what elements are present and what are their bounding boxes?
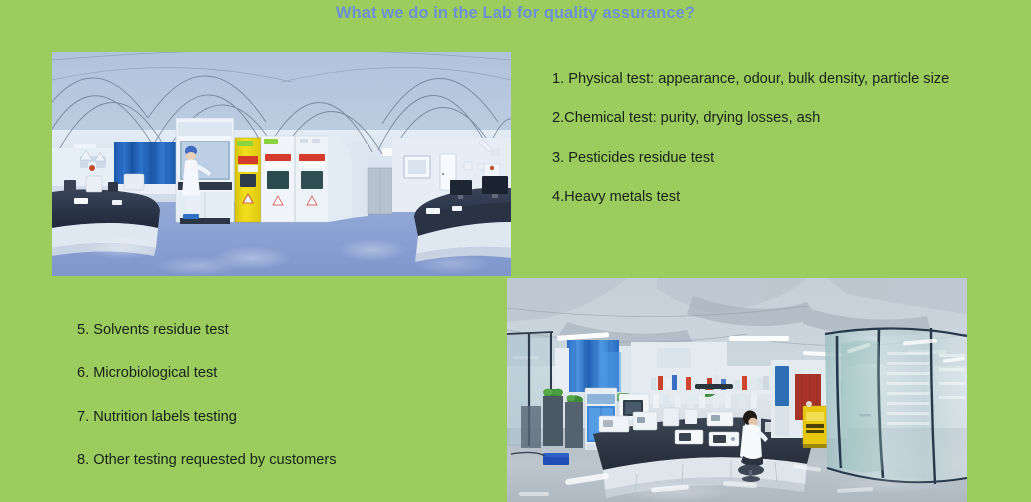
lab-photo-bottom-right <box>507 278 967 502</box>
list-item: 1. Physical test: appearance, odour, bul… <box>552 70 972 89</box>
list-item: 8. Other testing requested by customers <box>77 451 507 470</box>
list-item: 6. Microbiological test <box>77 364 507 383</box>
lab-photo-top-left-graphic <box>52 52 511 276</box>
list-item: 7. Nutrition labels testing <box>77 408 507 427</box>
lab-photo-bottom-right-graphic <box>507 278 967 502</box>
slide-canvas: What we do in the Lab for quality assura… <box>0 0 1031 502</box>
list-item: 3. Pesticides residue test <box>552 149 972 168</box>
page-title: What we do in the Lab for quality assura… <box>0 4 1031 23</box>
test-list-left: 5. Solvents residue test 6. Microbiologi… <box>77 321 507 470</box>
glass-partition-wall <box>825 328 967 484</box>
list-item: 2.Chemical test: purity, drying losses, … <box>552 109 972 128</box>
lab-photo-top-left <box>52 52 511 276</box>
test-list-right: 1. Physical test: appearance, odour, bul… <box>552 70 972 207</box>
list-item: 5. Solvents residue test <box>77 321 507 340</box>
list-item: 4.Heavy metals test <box>552 188 972 207</box>
